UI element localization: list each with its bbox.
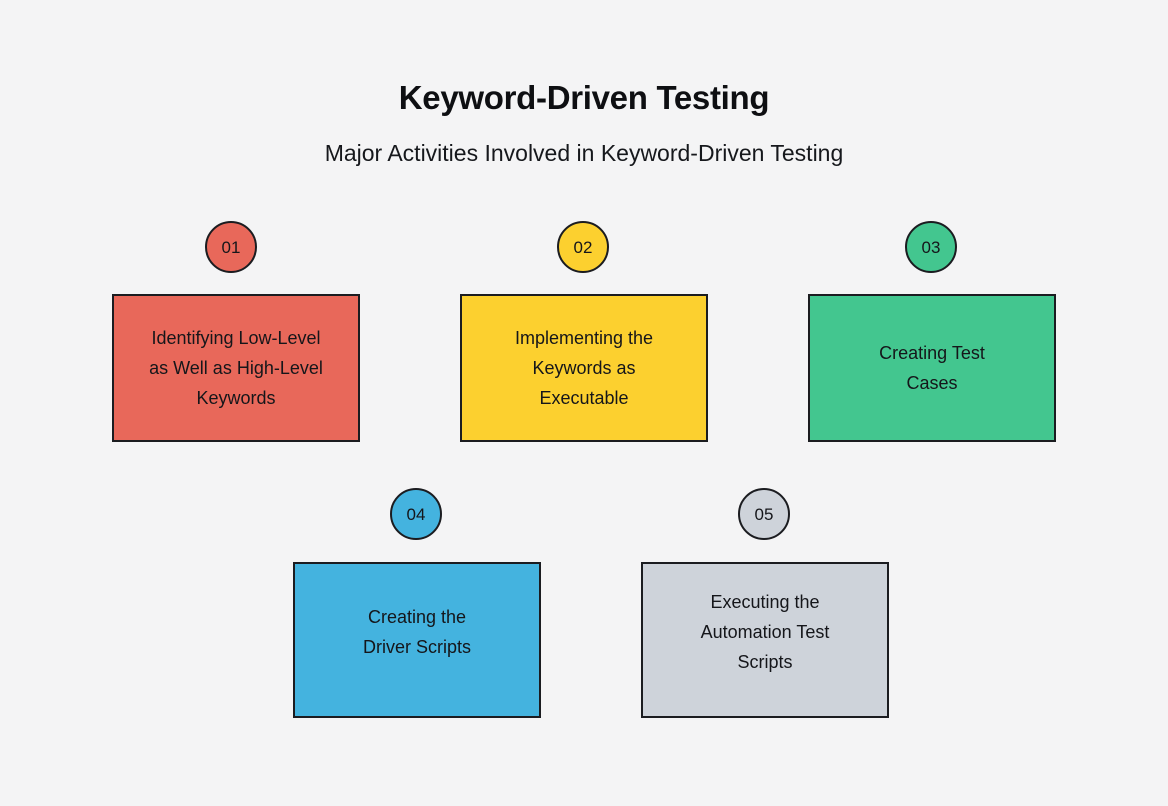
page-title: Keyword-Driven Testing bbox=[0, 80, 1168, 116]
step-03-badge: 03 bbox=[905, 221, 957, 273]
step-05-badge: 05 bbox=[738, 488, 790, 540]
step-04-number: 04 bbox=[407, 506, 426, 523]
step-04-card[interactable]: Creating the Driver Scripts bbox=[293, 562, 541, 718]
step-03-card[interactable]: Creating Test Cases bbox=[808, 294, 1056, 442]
step-05-label: Executing the Automation Test Scripts bbox=[687, 587, 844, 677]
step-02-badge: 02 bbox=[557, 221, 609, 273]
step-01-number: 01 bbox=[222, 239, 241, 256]
page-subtitle: Major Activities Involved in Keyword-Dri… bbox=[0, 116, 1168, 166]
step-05-number: 05 bbox=[755, 506, 774, 523]
step-01-card[interactable]: Identifying Low-Level as Well as High-Le… bbox=[112, 294, 360, 442]
step-02-number: 02 bbox=[574, 239, 593, 256]
step-04-badge: 04 bbox=[390, 488, 442, 540]
step-02-card[interactable]: Implementing the Keywords as Executable bbox=[460, 294, 708, 442]
step-02-label: Implementing the Keywords as Executable bbox=[501, 323, 667, 413]
step-01-label: Identifying Low-Level as Well as High-Le… bbox=[135, 323, 337, 413]
step-01-badge: 01 bbox=[205, 221, 257, 273]
step-03-label: Creating Test Cases bbox=[865, 338, 999, 398]
step-03-number: 03 bbox=[922, 239, 941, 256]
heading-block: Keyword-Driven Testing Major Activities … bbox=[0, 80, 1168, 167]
infographic-canvas: Keyword-Driven Testing Major Activities … bbox=[0, 0, 1168, 806]
step-04-label: Creating the Driver Scripts bbox=[349, 602, 485, 662]
step-05-card[interactable]: Executing the Automation Test Scripts bbox=[641, 562, 889, 718]
